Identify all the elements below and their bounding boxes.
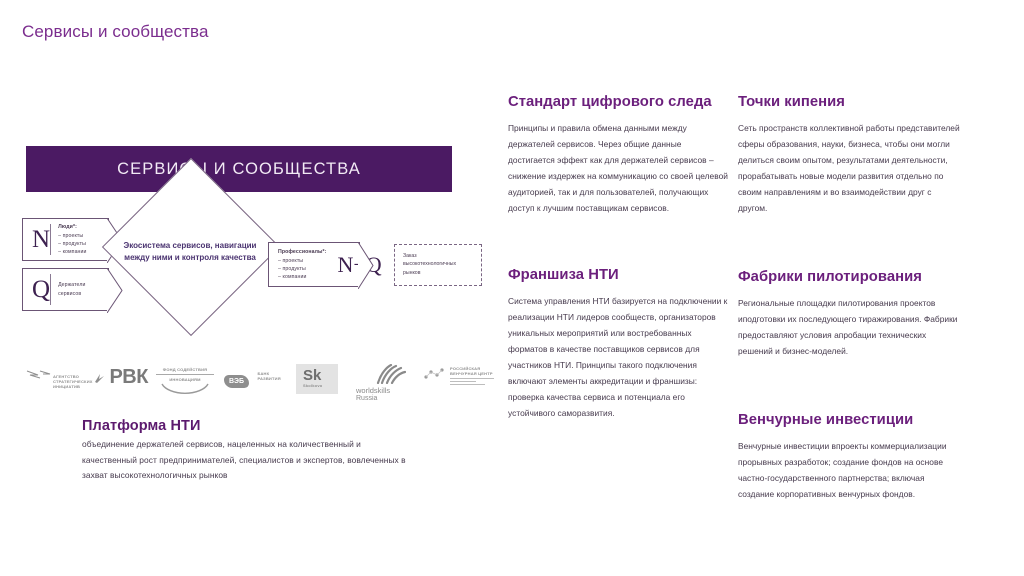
block-title: Франшиза НТИ: [508, 267, 730, 283]
content-column-right: Точки кипения Сеть пространств коллектив…: [738, 94, 960, 529]
node-result-line-3: рынков: [403, 269, 473, 277]
skolkovo-logo: Sk Skolkovo: [296, 364, 338, 394]
veb-line-2: РАЗВИТИЯ: [258, 376, 281, 381]
fond-line-1: ФОНД СОДЕЙСТВИЯ: [156, 367, 214, 372]
page-title: Сервисы и сообщества: [22, 22, 209, 42]
node-n-line-2: – продукты: [58, 240, 86, 248]
node-result-line-1: Заказ: [403, 252, 473, 260]
block-standard-cifrovogo-sleda: Стандарт цифрового следа Принципы и прав…: [508, 94, 730, 217]
diagram-center-label: Экосистема сервисов, навигации между ним…: [120, 240, 260, 264]
fond-arc-icon: [160, 383, 210, 397]
platform-caption-body: объединение держателей сервисов, нацелен…: [82, 437, 412, 484]
sk-text: Sk: [296, 364, 338, 383]
rvk-logo: РВК: [94, 366, 148, 389]
block-body: Принципы и правила обмена данными между …: [508, 121, 730, 217]
worldskills-text: worldskills: [356, 386, 406, 395]
block-title: Венчурные инвестиции: [738, 412, 960, 428]
worldskills-sub: Russia: [356, 395, 406, 402]
worldskills-logo: worldskills Russia: [356, 364, 406, 402]
node-nq-line-1: – проекты: [278, 257, 326, 265]
ecosystem-diagram: N Люди*: – проекты – продукты – компании: [20, 210, 490, 340]
fond-line-2: ИННОВАЦИЯМ: [156, 377, 214, 382]
diagram-node-q: Q Держатели сервисов: [22, 268, 109, 311]
block-tochki-kipeniya: Точки кипения Сеть пространств коллектив…: [738, 94, 960, 217]
partner-logos-row: АГЕНТСТВО СТРАТЕГИЧЕСКИХ ИНИЦИАТИВ РВК Ф…: [22, 358, 492, 408]
node-n-line-3: – компании: [58, 248, 86, 256]
block-title: Фабрики пилотирования: [738, 269, 960, 285]
divider: [50, 224, 51, 255]
node-nq-line-2: – продукты: [278, 265, 326, 273]
asi-line-3: ИНИЦИАТИВ: [53, 384, 96, 389]
node-n-letter: N: [32, 227, 50, 252]
asi-bird-icon: [26, 369, 52, 381]
node-nq-heading: Профессионалы*:: [278, 248, 326, 256]
banner-text: СЕРВИСЫ И СООБЩЕСТВА: [117, 160, 361, 179]
chevron-arrow-icon: [107, 268, 123, 309]
block-fabriki-pilotirovaniya: Фабрики пилотирования Региональные площа…: [738, 269, 960, 360]
divider: [50, 274, 51, 305]
block-body: Региональные площадки пилотирования прое…: [738, 296, 960, 360]
node-nq-text: Профессионалы*: – проекты – продукты – к…: [278, 248, 326, 281]
content-column-left: Стандарт цифрового следа Принципы и прав…: [508, 94, 730, 448]
left-panel: СЕРВИСЫ И СООБЩЕСТВА N Люди*: – проекты …: [0, 140, 500, 510]
rossiyskaya-venchurnaya-logo: РОССИЙСКАЯ ВЕНЧУРНАЯ ЦЕНТР: [422, 366, 494, 387]
block-franshiza-nti: Франшиза НТИ Система управления НТИ бази…: [508, 267, 730, 422]
diagram-node-nq: Профессионалы*: – проекты – продукты – к…: [268, 242, 360, 287]
section-banner: СЕРВИСЫ И СООБЩЕСТВА: [26, 146, 452, 192]
node-n-heading: Люди*:: [58, 223, 86, 231]
node-result-line-2: высокотехнологичных: [403, 260, 473, 268]
block-body: Венчурные инвестиции впроекты коммерциал…: [738, 439, 960, 503]
diagram-node-n: N Люди*: – проекты – продукты – компании: [22, 218, 109, 261]
rvk-text: РВК: [109, 366, 148, 388]
sk-sub: Skolkovo: [296, 383, 338, 388]
rvk-mark-icon: [94, 371, 105, 382]
block-title: Точки кипения: [738, 94, 960, 110]
venchur-line-2: ВЕНЧУРНАЯ ЦЕНТР: [450, 371, 494, 376]
block-title: Стандарт цифрового следа: [508, 94, 730, 110]
diagram-node-result: Заказ высокотехнологичных рынков: [394, 244, 482, 286]
node-n-line-1: – проекты: [58, 232, 86, 240]
asi-logo: АГЕНТСТВО СТРАТЕГИЧЕСКИХ ИНИЦИАТИВ: [26, 368, 96, 389]
node-n-text: Люди*: – проекты – продукты – компании: [58, 223, 86, 256]
block-body: Система управления НТИ базируется на под…: [508, 294, 730, 422]
node-q-letter: Q: [32, 277, 50, 302]
chevron-arrow-icon: [358, 242, 374, 285]
node-nq-line-3: – компании: [278, 273, 326, 281]
block-body: Сеть пространств коллективной работы пре…: [738, 121, 960, 217]
venchur-dots-icon: [422, 366, 446, 382]
veb-mark: ВЭБ: [224, 375, 249, 388]
node-result-text: Заказ высокотехнологичных рынков: [403, 252, 473, 277]
slide-root: Сервисы и сообщества СЕРВИСЫ И СООБЩЕСТВ…: [0, 0, 1024, 576]
worldskills-hand-icon: [374, 364, 406, 384]
fond-sodeistviya-logo: ФОНД СОДЕЙСТВИЯ ИННОВАЦИЯМ: [156, 367, 214, 397]
node-q-text: Держатели сервисов: [58, 281, 85, 297]
node-q-line-1: сервисов: [58, 290, 85, 298]
platform-caption-title: Платформа НТИ: [82, 418, 412, 434]
node-q-heading: Держатели: [58, 281, 85, 289]
veb-logo: ВЭБ БАНК РАЗВИТИЯ: [224, 370, 281, 388]
platform-caption: Платформа НТИ объединение держателей сер…: [82, 418, 412, 484]
block-venchurnye-investicii: Венчурные инвестиции Венчурные инвестици…: [738, 412, 960, 503]
